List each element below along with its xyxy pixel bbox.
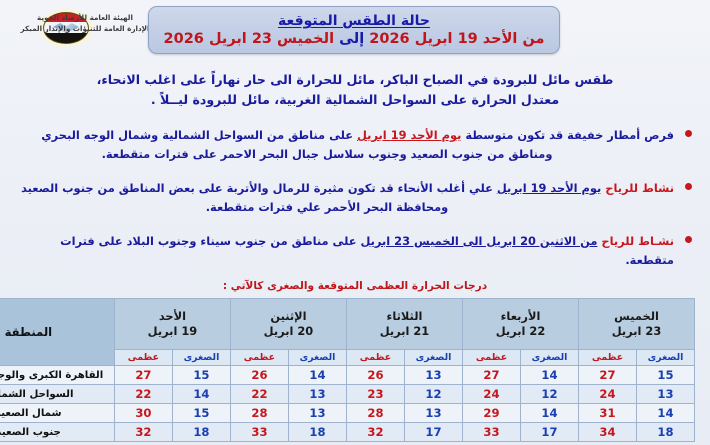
list-item: فرص أمطار خفيفة قد تكون متوسطة يوم الأحد… bbox=[14, 126, 696, 165]
date-range-from: من الأحد 19 ابريل 2026 bbox=[369, 31, 544, 47]
bullet-line-2: ومناطق من جنوب الصعيد وجنوب سلاسل جبال ا… bbox=[14, 145, 674, 164]
min-value: 13 bbox=[404, 366, 462, 385]
summary-line-2: معتدل الحرارة على السواحل الشمالية الغرب… bbox=[0, 90, 710, 110]
min-value: 14 bbox=[637, 404, 695, 423]
min-value: 12 bbox=[404, 385, 462, 404]
min-value: 15 bbox=[172, 366, 230, 385]
min-label: الصغرى bbox=[520, 350, 578, 366]
day-header-monday: الإثنين 20 ابريل bbox=[230, 299, 346, 350]
min-value: 15 bbox=[637, 366, 695, 385]
min-value: 18 bbox=[637, 423, 695, 442]
day-date: 20 ابريل bbox=[231, 324, 346, 339]
max-value: 27 bbox=[462, 366, 520, 385]
max-value: 26 bbox=[230, 366, 288, 385]
org-line-1: الهيئة العامة للأرصاد الجوية bbox=[10, 12, 160, 23]
region-name: شمال الصعيد bbox=[0, 404, 114, 423]
day-name: الخميس bbox=[579, 309, 694, 324]
table-body: 15 27 14 27 13 26 14 26 15 27 القاهرة ال… bbox=[0, 366, 695, 442]
min-value: 14 bbox=[520, 404, 578, 423]
min-label: الصغرى bbox=[637, 350, 695, 366]
day-date: 22 ابريل bbox=[463, 324, 578, 339]
min-value: 14 bbox=[520, 366, 578, 385]
list-item: نشاط للرياح يوم الأحد 19 ابريل علي أغلب … bbox=[14, 179, 696, 218]
min-value: 17 bbox=[404, 423, 462, 442]
max-value: 32 bbox=[346, 423, 404, 442]
bullet-line-1: نشـاط للرياح من الاثنين 20 ابريل الى الخ… bbox=[14, 232, 674, 271]
max-value: 22 bbox=[230, 385, 288, 404]
bullet-seg-2: يوم الأحد 19 ابريل bbox=[497, 181, 601, 195]
bullet-seg-2: يوم الأحد 19 ابريل bbox=[357, 128, 461, 142]
day-name: الأحد bbox=[115, 309, 230, 324]
day-name: الإثنين bbox=[231, 309, 346, 324]
org-line-2: الإدارة العامة للتنبؤات والإنذار المبكر bbox=[10, 23, 160, 34]
day-header-sunday: الأحد 19 ابريل bbox=[114, 299, 230, 350]
min-value: 13 bbox=[637, 385, 695, 404]
region-name: السواحل الشمالية bbox=[0, 385, 114, 404]
bullet-line-1: نشاط للرياح يوم الأحد 19 ابريل علي أغلب … bbox=[14, 179, 674, 198]
logo-black-band bbox=[44, 33, 88, 43]
max-label: عظمى bbox=[462, 350, 520, 366]
min-value: 13 bbox=[288, 385, 346, 404]
region-name: القاهرة الكبرى والوجه البحري bbox=[0, 366, 114, 385]
day-name: الأربعاء bbox=[463, 309, 578, 324]
region-column-header: المنطقة bbox=[0, 299, 114, 366]
max-value: 24 bbox=[578, 385, 636, 404]
bullet-seg-3: علي أغلب الأنحاء قد تكون مثيرة للرمال وا… bbox=[21, 181, 493, 195]
min-label: الصغرى bbox=[288, 350, 346, 366]
bullet-dot-icon bbox=[685, 183, 692, 190]
max-value: 30 bbox=[114, 404, 172, 423]
list-item: نشـاط للرياح من الاثنين 20 ابريل الى الخ… bbox=[14, 232, 696, 271]
max-value: 24 bbox=[462, 385, 520, 404]
day-name: الثلاثاء bbox=[347, 309, 462, 324]
temperature-table: الخميس 23 ابريل الأربعاء 22 ابريل الثلاث… bbox=[0, 298, 695, 442]
day-date: 23 ابريل bbox=[579, 324, 694, 339]
region-name: جنوب الصعيد bbox=[0, 423, 114, 442]
table-row: 18 34 17 33 17 32 18 33 18 32 جنوب الصعي… bbox=[0, 423, 695, 442]
max-value: 33 bbox=[230, 423, 288, 442]
min-value: 15 bbox=[172, 404, 230, 423]
max-value: 34 bbox=[578, 423, 636, 442]
day-header-thursday: الخميس 23 ابريل bbox=[578, 299, 694, 350]
bullet-seg-1: نشـاط للرياح bbox=[601, 234, 674, 248]
bullet-seg-1: فرص أمطار خفيفة قد تكون متوسطة bbox=[465, 128, 674, 142]
max-value: 22 bbox=[114, 385, 172, 404]
bullet-seg-1: نشاط للرياح bbox=[605, 181, 674, 195]
max-value: 23 bbox=[346, 385, 404, 404]
date-range: من الأحد 19 ابريل 2026 إلى الخميس 23 ابر… bbox=[164, 31, 545, 47]
max-value: 26 bbox=[346, 366, 404, 385]
max-label: عظمى bbox=[346, 350, 404, 366]
max-value: 28 bbox=[230, 404, 288, 423]
min-value: 18 bbox=[288, 423, 346, 442]
table-caption: درجات الحرارة العظمى المتوقعة والصغرى كا… bbox=[0, 280, 710, 292]
max-label: عظمى bbox=[114, 350, 172, 366]
page-header: الهيئة العامة للأرصاد الجوية الإدارة الع… bbox=[0, 0, 710, 58]
day-date: 21 ابريل bbox=[347, 324, 462, 339]
table-day-header-row: الخميس 23 ابريل الأربعاء 22 ابريل الثلاث… bbox=[0, 299, 695, 350]
min-label: الصغرى bbox=[404, 350, 462, 366]
max-value: 27 bbox=[578, 366, 636, 385]
date-range-connector: إلى bbox=[339, 31, 364, 47]
page-title: حالة الطقس المتوقعة bbox=[278, 13, 430, 29]
max-value: 32 bbox=[114, 423, 172, 442]
day-date: 19 ابريل bbox=[115, 324, 230, 339]
max-value: 31 bbox=[578, 404, 636, 423]
min-value: 13 bbox=[404, 404, 462, 423]
bullet-line-1: فرص أمطار خفيفة قد تكون متوسطة يوم الأحد… bbox=[14, 126, 674, 145]
table-row: 15 27 14 27 13 26 14 26 15 27 القاهرة ال… bbox=[0, 366, 695, 385]
table-row: 13 24 12 24 12 23 13 22 14 22 السواحل ال… bbox=[0, 385, 695, 404]
bullet-list: فرص أمطار خفيفة قد تكون متوسطة يوم الأحد… bbox=[14, 126, 696, 284]
summary-paragraph: طقس مائل للبرودة في الصباح الباكر، مائل … bbox=[0, 70, 710, 111]
date-range-to: الخميس 23 ابريل 2026 bbox=[164, 31, 335, 47]
min-value: 17 bbox=[520, 423, 578, 442]
min-value: 18 bbox=[172, 423, 230, 442]
bullet-seg-3: على مناطق من السواحل الشمالية وشمال الوج… bbox=[41, 128, 353, 142]
summary-line-1: طقس مائل للبرودة في الصباح الباكر، مائل … bbox=[0, 70, 710, 90]
bullet-dot-icon bbox=[685, 236, 692, 243]
day-header-tuesday: الثلاثاء 21 ابريل bbox=[346, 299, 462, 350]
bullet-line-2: ومحافظة البحر الأحمر علي فترات متقطعة. bbox=[14, 198, 674, 217]
forecast-page: الهيئة العامة للأرصاد الجوية الإدارة الع… bbox=[0, 0, 710, 445]
min-label: الصغرى bbox=[172, 350, 230, 366]
min-value: 14 bbox=[288, 366, 346, 385]
bullet-seg-2: من الاثنين 20 ابريل الى الخميس 23 ابريل bbox=[360, 234, 597, 248]
min-value: 13 bbox=[288, 404, 346, 423]
title-box: حالة الطقس المتوقعة من الأحد 19 ابريل 20… bbox=[148, 6, 560, 54]
max-value: 33 bbox=[462, 423, 520, 442]
max-value: 27 bbox=[114, 366, 172, 385]
min-value: 12 bbox=[520, 385, 578, 404]
organization-name: الهيئة العامة للأرصاد الجوية الإدارة الع… bbox=[10, 12, 160, 34]
max-label: عظمى bbox=[230, 350, 288, 366]
bullet-dot-icon bbox=[685, 130, 692, 137]
min-value: 14 bbox=[172, 385, 230, 404]
max-value: 28 bbox=[346, 404, 404, 423]
day-header-wednesday: الأربعاء 22 ابريل bbox=[462, 299, 578, 350]
table-row: 14 31 14 29 13 28 13 28 15 30 شمال الصعي… bbox=[0, 404, 695, 423]
max-value: 29 bbox=[462, 404, 520, 423]
max-label: عظمى bbox=[578, 350, 636, 366]
